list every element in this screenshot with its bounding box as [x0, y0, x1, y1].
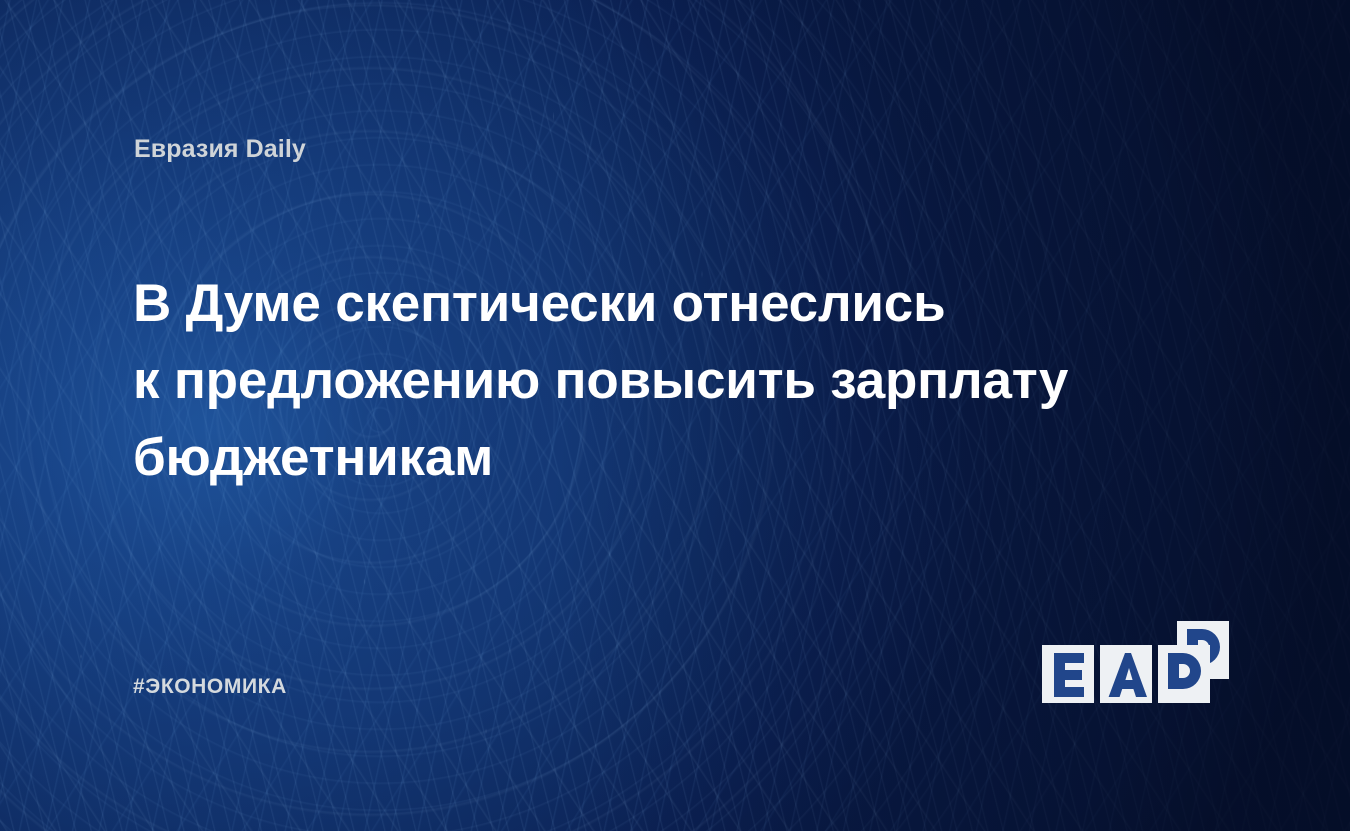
headline-line: В Думе скептически отнеслись	[133, 265, 1143, 342]
news-share-card: Евразия Daily В Думе скептически отнесли…	[0, 0, 1350, 831]
category-hashtag[interactable]: #ЭКОНОМИКА	[133, 675, 287, 699]
headline-line: бюджетникам	[133, 419, 1143, 496]
headline-line: к предложению повысить зарплату	[133, 342, 1143, 419]
logo-tile-a	[1100, 645, 1152, 703]
logo-tile-e	[1042, 645, 1094, 703]
headline: В Думе скептически отнеслись к предложен…	[133, 265, 1143, 496]
logo-tile-d-lower	[1158, 645, 1210, 703]
publisher-name: Евразия Daily	[134, 135, 306, 164]
ead-logo[interactable]	[1042, 621, 1232, 721]
card-content: Евразия Daily В Думе скептически отнесли…	[0, 0, 1350, 831]
